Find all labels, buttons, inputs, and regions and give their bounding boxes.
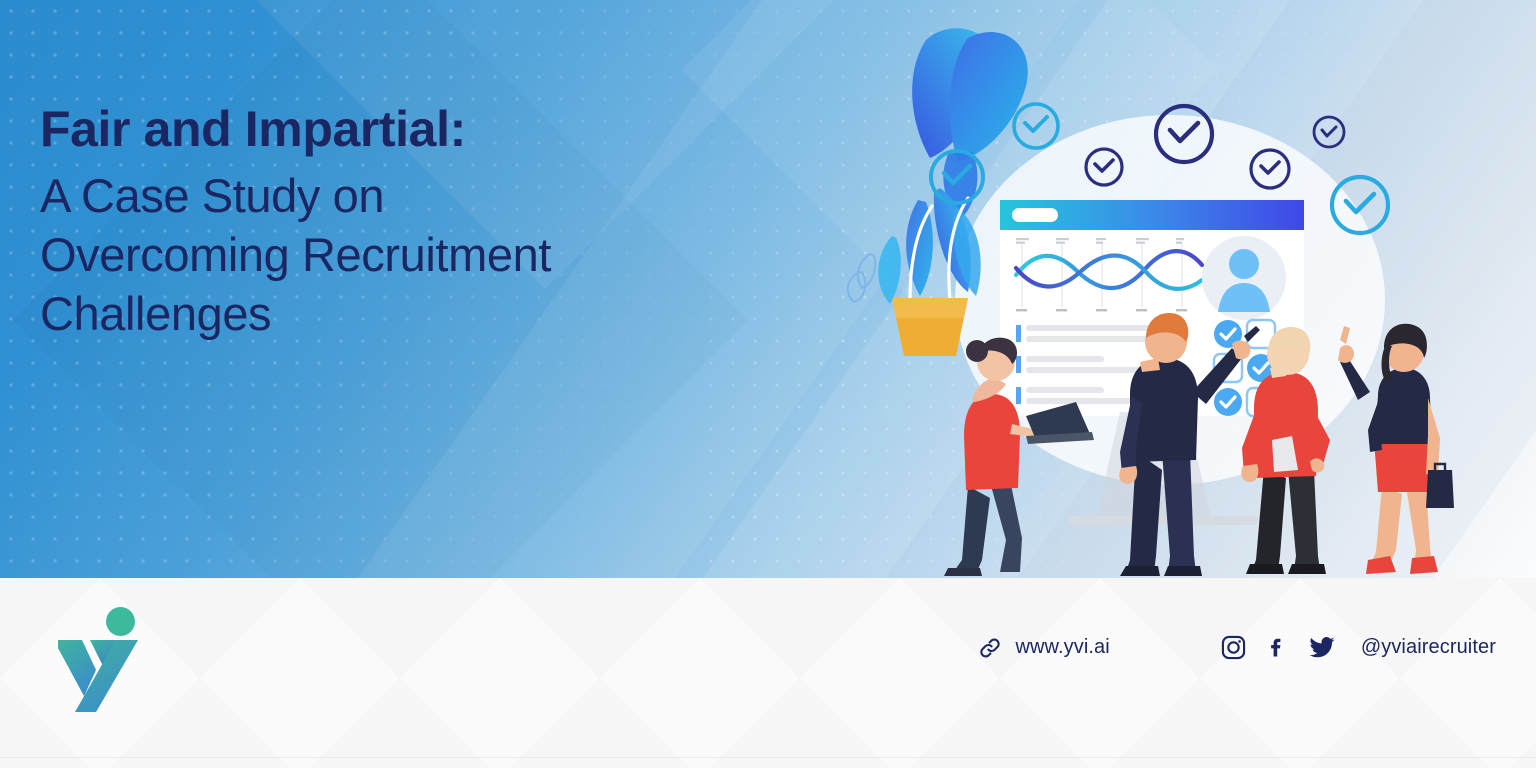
headline-line-4: Challenges	[40, 290, 680, 337]
twitter-icon[interactable]	[1307, 634, 1337, 661]
facebook-icon[interactable]	[1265, 634, 1289, 661]
headline-line-2: A Case Study on	[40, 172, 680, 219]
check-badge-icon	[1014, 104, 1058, 148]
footer-section: www.yvi.ai @yviairecruiter	[0, 578, 1536, 768]
headline-line-3: Overcoming Recruitment	[40, 231, 680, 278]
recruitment-team-illustration	[840, 0, 1536, 578]
check-badge-icon	[1314, 117, 1344, 147]
logo-dot	[106, 607, 135, 636]
footer-pattern	[0, 578, 1536, 768]
website-label: www.yvi.ai	[1015, 636, 1109, 659]
user-avatar	[1202, 236, 1286, 320]
headline-block: Fair and Impartial: A Case Study on Over…	[40, 104, 680, 337]
instagram-icon[interactable]	[1220, 634, 1247, 661]
website-link[interactable]: www.yvi.ai	[977, 635, 1109, 661]
headline-line-1: Fair and Impartial:	[40, 104, 680, 154]
checkbox-checked	[1214, 388, 1242, 416]
footer-divider	[0, 757, 1536, 758]
banner: Fair and Impartial: A Case Study on Over…	[0, 0, 1536, 768]
link-icon	[977, 635, 1003, 661]
footer-contact-row: www.yvi.ai @yviairecruiter	[977, 634, 1496, 661]
social-handle: @yviairecruiter	[1361, 636, 1496, 659]
hero-section: Fair and Impartial: A Case Study on Over…	[0, 0, 1536, 578]
titlebar-pill	[1012, 208, 1058, 222]
yvi-logo[interactable]	[48, 596, 168, 716]
